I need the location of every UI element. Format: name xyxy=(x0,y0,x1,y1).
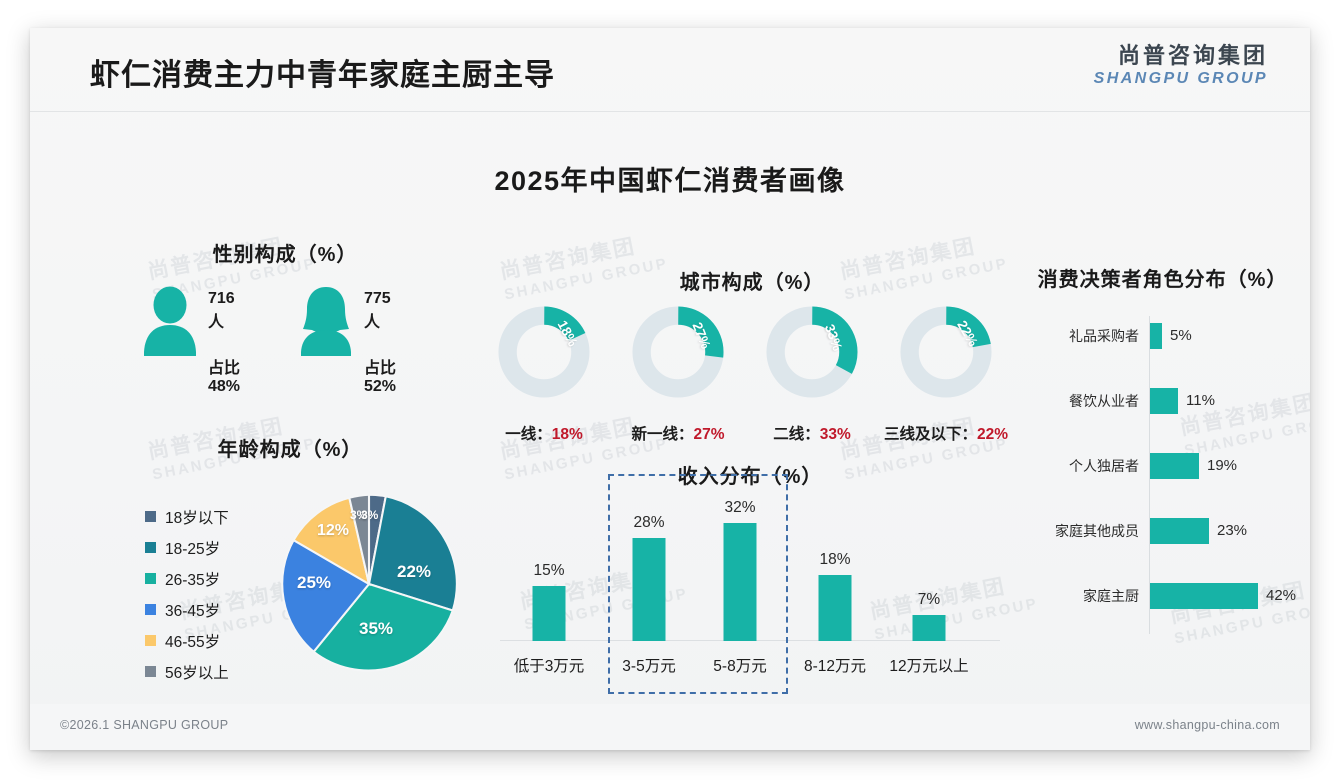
role-value: 19% xyxy=(1207,457,1237,474)
pie-label-36-45: 25% xyxy=(297,573,331,593)
income-bar-chart: 15% 低于3万元 28% 3-5万元 32% 5-8万元 18% 8-12万元 xyxy=(490,508,1010,690)
city-donut-tier3: 22% 三线及以下：22% xyxy=(898,304,994,400)
donut-caption-tier3: 三线及以下：22% xyxy=(860,422,1032,444)
age-title: 年龄构成（%） xyxy=(100,433,480,462)
gender-female-count: 775人 xyxy=(364,290,396,332)
legend-label: 56岁以上 xyxy=(165,661,229,683)
income-bar-item: 28% 3-5万元 xyxy=(602,508,696,690)
role-bar xyxy=(1150,583,1258,609)
role-bar-chart: 礼品采购者 5% 餐饮从业者 11% 个人独居者 19% 家庭其他成员 23% xyxy=(1025,311,1310,641)
role-title: 消费决策者角色分布（%） xyxy=(1020,263,1305,292)
role-value: 5% xyxy=(1170,327,1192,344)
main-title: 2025年中国虾仁消费者画像 xyxy=(30,159,1310,198)
income-bar xyxy=(633,538,666,641)
income-bar-item: 7% 12万元以上 xyxy=(882,508,976,690)
legend-label: 46-55岁 xyxy=(165,630,220,652)
legend-swatch xyxy=(145,666,156,677)
pie-label-26-35: 35% xyxy=(359,619,393,639)
role-bar xyxy=(1150,518,1209,544)
role-label: 家庭主厨 xyxy=(1083,586,1139,606)
donut-svg xyxy=(496,304,592,400)
legend-swatch xyxy=(145,604,156,615)
gender-title: 性别构成（%） xyxy=(100,238,470,267)
donut-svg xyxy=(630,304,726,400)
legend-item: 46-55岁 xyxy=(145,625,229,656)
legend-swatch xyxy=(145,635,156,646)
legend-swatch xyxy=(145,573,156,584)
role-value: 23% xyxy=(1217,522,1247,539)
female-silhouette-icon xyxy=(298,286,354,356)
pie-label-18-25: 22% xyxy=(397,562,431,582)
role-bar-item: 礼品采购者 5% xyxy=(1025,323,1310,349)
gender-female-share: 占比52% xyxy=(364,354,396,396)
legend-label: 26-35岁 xyxy=(165,568,220,590)
income-distribution-panel: 收入分布（%） 15% 低于3万元 28% 3-5万元 32% 5-8万元 xyxy=(490,460,1010,690)
income-value: 7% xyxy=(918,591,940,609)
income-bar xyxy=(819,575,852,641)
income-value: 15% xyxy=(533,562,564,580)
income-category: 12万元以上 xyxy=(889,654,968,676)
copyright-text: ©2026.1 SHANGPU GROUP xyxy=(60,718,228,732)
gender-female-text: 775人 占比52% xyxy=(364,290,396,396)
gender-composition-panel: 性别构成（%） 716人 占比48% 775人 占比52% xyxy=(100,238,470,393)
donut-caption-newtier1: 新一线：27% xyxy=(602,422,754,444)
income-bar xyxy=(724,523,757,641)
income-bar xyxy=(533,586,566,641)
role-bar xyxy=(1150,323,1162,349)
gender-male-text: 716人 占比48% xyxy=(208,290,240,396)
city-title: 城市构成（%） xyxy=(482,266,1022,295)
role-bar-item: 餐饮从业者 11% xyxy=(1025,388,1310,414)
income-bar xyxy=(913,615,946,641)
role-label: 家庭其他成员 xyxy=(1055,521,1139,541)
age-legend: 18岁以下 18-25岁 26-35岁 36-45岁 46-55岁 56岁以上 xyxy=(145,501,229,687)
role-value: 42% xyxy=(1266,587,1296,604)
role-label: 个人独居者 xyxy=(1069,456,1139,476)
pie-label-under18: 3% xyxy=(361,508,378,522)
legend-item: 18-25岁 xyxy=(145,532,229,563)
income-value: 28% xyxy=(633,514,664,532)
legend-label: 36-45岁 xyxy=(165,599,220,621)
legend-item: 36-45岁 xyxy=(145,594,229,625)
income-category: 8-12万元 xyxy=(804,654,866,676)
role-bar xyxy=(1150,453,1199,479)
website-url[interactable]: www.shangpu-china.com xyxy=(1135,718,1280,732)
brand-name-en: SHANGPU GROUP xyxy=(1094,70,1268,88)
city-donut-tier2: 33% 二线：33% xyxy=(764,304,860,400)
male-silhouette-icon xyxy=(142,286,198,356)
brand-logo: 尚普咨询集团 SHANGPU GROUP xyxy=(1094,44,1268,88)
gender-male-count: 716人 xyxy=(208,290,240,332)
role-bar-item: 个人独居者 19% xyxy=(1025,453,1310,479)
income-category: 3-5万元 xyxy=(622,654,675,676)
legend-swatch xyxy=(145,511,156,522)
decision-role-panel: 消费决策者角色分布（%） 礼品采购者 5% 餐饮从业者 11% 个人独居者 19… xyxy=(1025,263,1310,648)
slide-canvas: 尚普咨询集团SHANGPU GROUP 尚普咨询集团SHANGPU GROUP … xyxy=(30,28,1310,750)
page-title: 虾仁消费主力中青年家庭主厨主导 xyxy=(90,50,555,94)
donut-svg xyxy=(764,304,860,400)
role-bar-item: 家庭其他成员 23% xyxy=(1025,518,1310,544)
legend-swatch xyxy=(145,542,156,553)
legend-item: 56岁以上 xyxy=(145,656,229,687)
footer-bar: ©2026.1 SHANGPU GROUP www.shangpu-china.… xyxy=(30,704,1310,750)
income-value: 32% xyxy=(724,499,755,517)
city-donut-newtier1: 27% 新一线：27% xyxy=(630,304,726,400)
age-composition-panel: 年龄构成（%） 18岁以下 18-25岁 26-35岁 36-45岁 46-55… xyxy=(100,433,480,688)
city-composition-panel: 城市构成（%） 18% 一线：18% 27% 新一线：27% xyxy=(482,266,1022,408)
income-bar-item: 32% 5-8万元 xyxy=(693,508,787,690)
donut-svg xyxy=(898,304,994,400)
role-bar xyxy=(1150,388,1178,414)
pie-label-46-55: 12% xyxy=(317,522,349,540)
age-pie-chart: 22% 35% 25% 12% 3% 3% xyxy=(275,490,463,678)
income-bar-item: 18% 8-12万元 xyxy=(788,508,882,690)
role-label: 餐饮从业者 xyxy=(1069,391,1139,411)
legend-label: 18岁以下 xyxy=(165,506,229,528)
role-label: 礼品采购者 xyxy=(1069,326,1139,346)
gender-male-share: 占比48% xyxy=(208,354,240,396)
income-bar-item: 15% 低于3万元 xyxy=(502,508,596,690)
income-category: 低于3万元 xyxy=(514,654,585,676)
city-donut-tier1: 18% 一线：18% xyxy=(496,304,592,400)
income-category: 5-8万元 xyxy=(713,654,766,676)
role-bar-item: 家庭主厨 42% xyxy=(1025,583,1310,609)
income-value: 18% xyxy=(819,551,850,569)
donut-caption-tier1: 一线：18% xyxy=(468,422,620,444)
role-value: 11% xyxy=(1186,392,1215,409)
brand-name-cn: 尚普咨询集团 xyxy=(1094,44,1268,68)
legend-label: 18-25岁 xyxy=(165,537,220,559)
legend-item: 26-35岁 xyxy=(145,563,229,594)
legend-item: 18岁以下 xyxy=(145,501,229,532)
